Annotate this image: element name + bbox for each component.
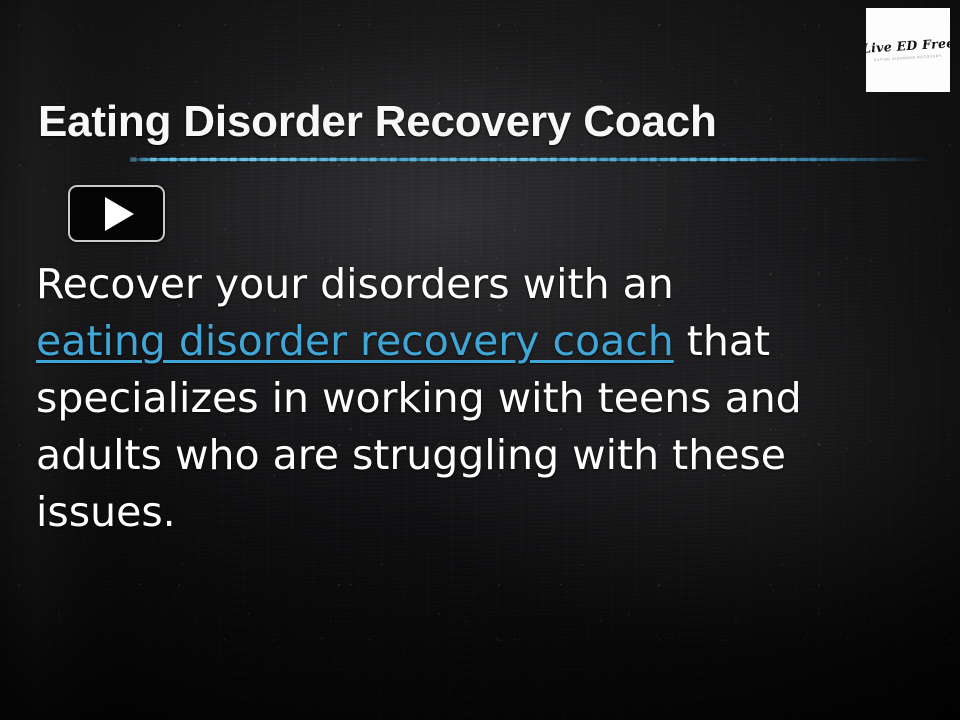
divider-stroke-texture: [130, 157, 930, 162]
body-line-3: specializes in working with teens and: [36, 370, 866, 427]
body-text-3: specializes in working with teens and: [36, 374, 802, 422]
body-line-2: eating disorder recovery coach that: [36, 313, 866, 370]
title-divider: [130, 156, 930, 163]
play-button[interactable]: [68, 185, 165, 242]
body-paragraph: Recover your disorders with an eating di…: [36, 256, 866, 541]
body-text-5: issues.: [36, 488, 176, 536]
body-line-5: issues.: [36, 484, 866, 541]
body-text-1: Recover your disorders with an: [36, 260, 674, 308]
page-title: Eating Disorder Recovery Coach: [38, 96, 717, 148]
body-line-1: Recover your disorders with an: [36, 256, 866, 313]
brand-logo: Live ED Free EATING DISORDER RECOVERY: [866, 8, 950, 92]
body-line-4: adults who are struggling with these: [36, 427, 866, 484]
logo-tagline: EATING DISORDER RECOVERY: [874, 54, 942, 62]
play-icon: [105, 197, 134, 231]
logo-wordmark: Live ED Free: [866, 37, 950, 55]
eating-disorder-recovery-coach-link[interactable]: eating disorder recovery coach: [36, 317, 674, 365]
body-text-4: adults who are struggling with these: [36, 431, 786, 479]
slide-canvas: Live ED Free EATING DISORDER RECOVERY Ea…: [0, 0, 960, 720]
body-text-2-tail: that: [674, 317, 770, 365]
